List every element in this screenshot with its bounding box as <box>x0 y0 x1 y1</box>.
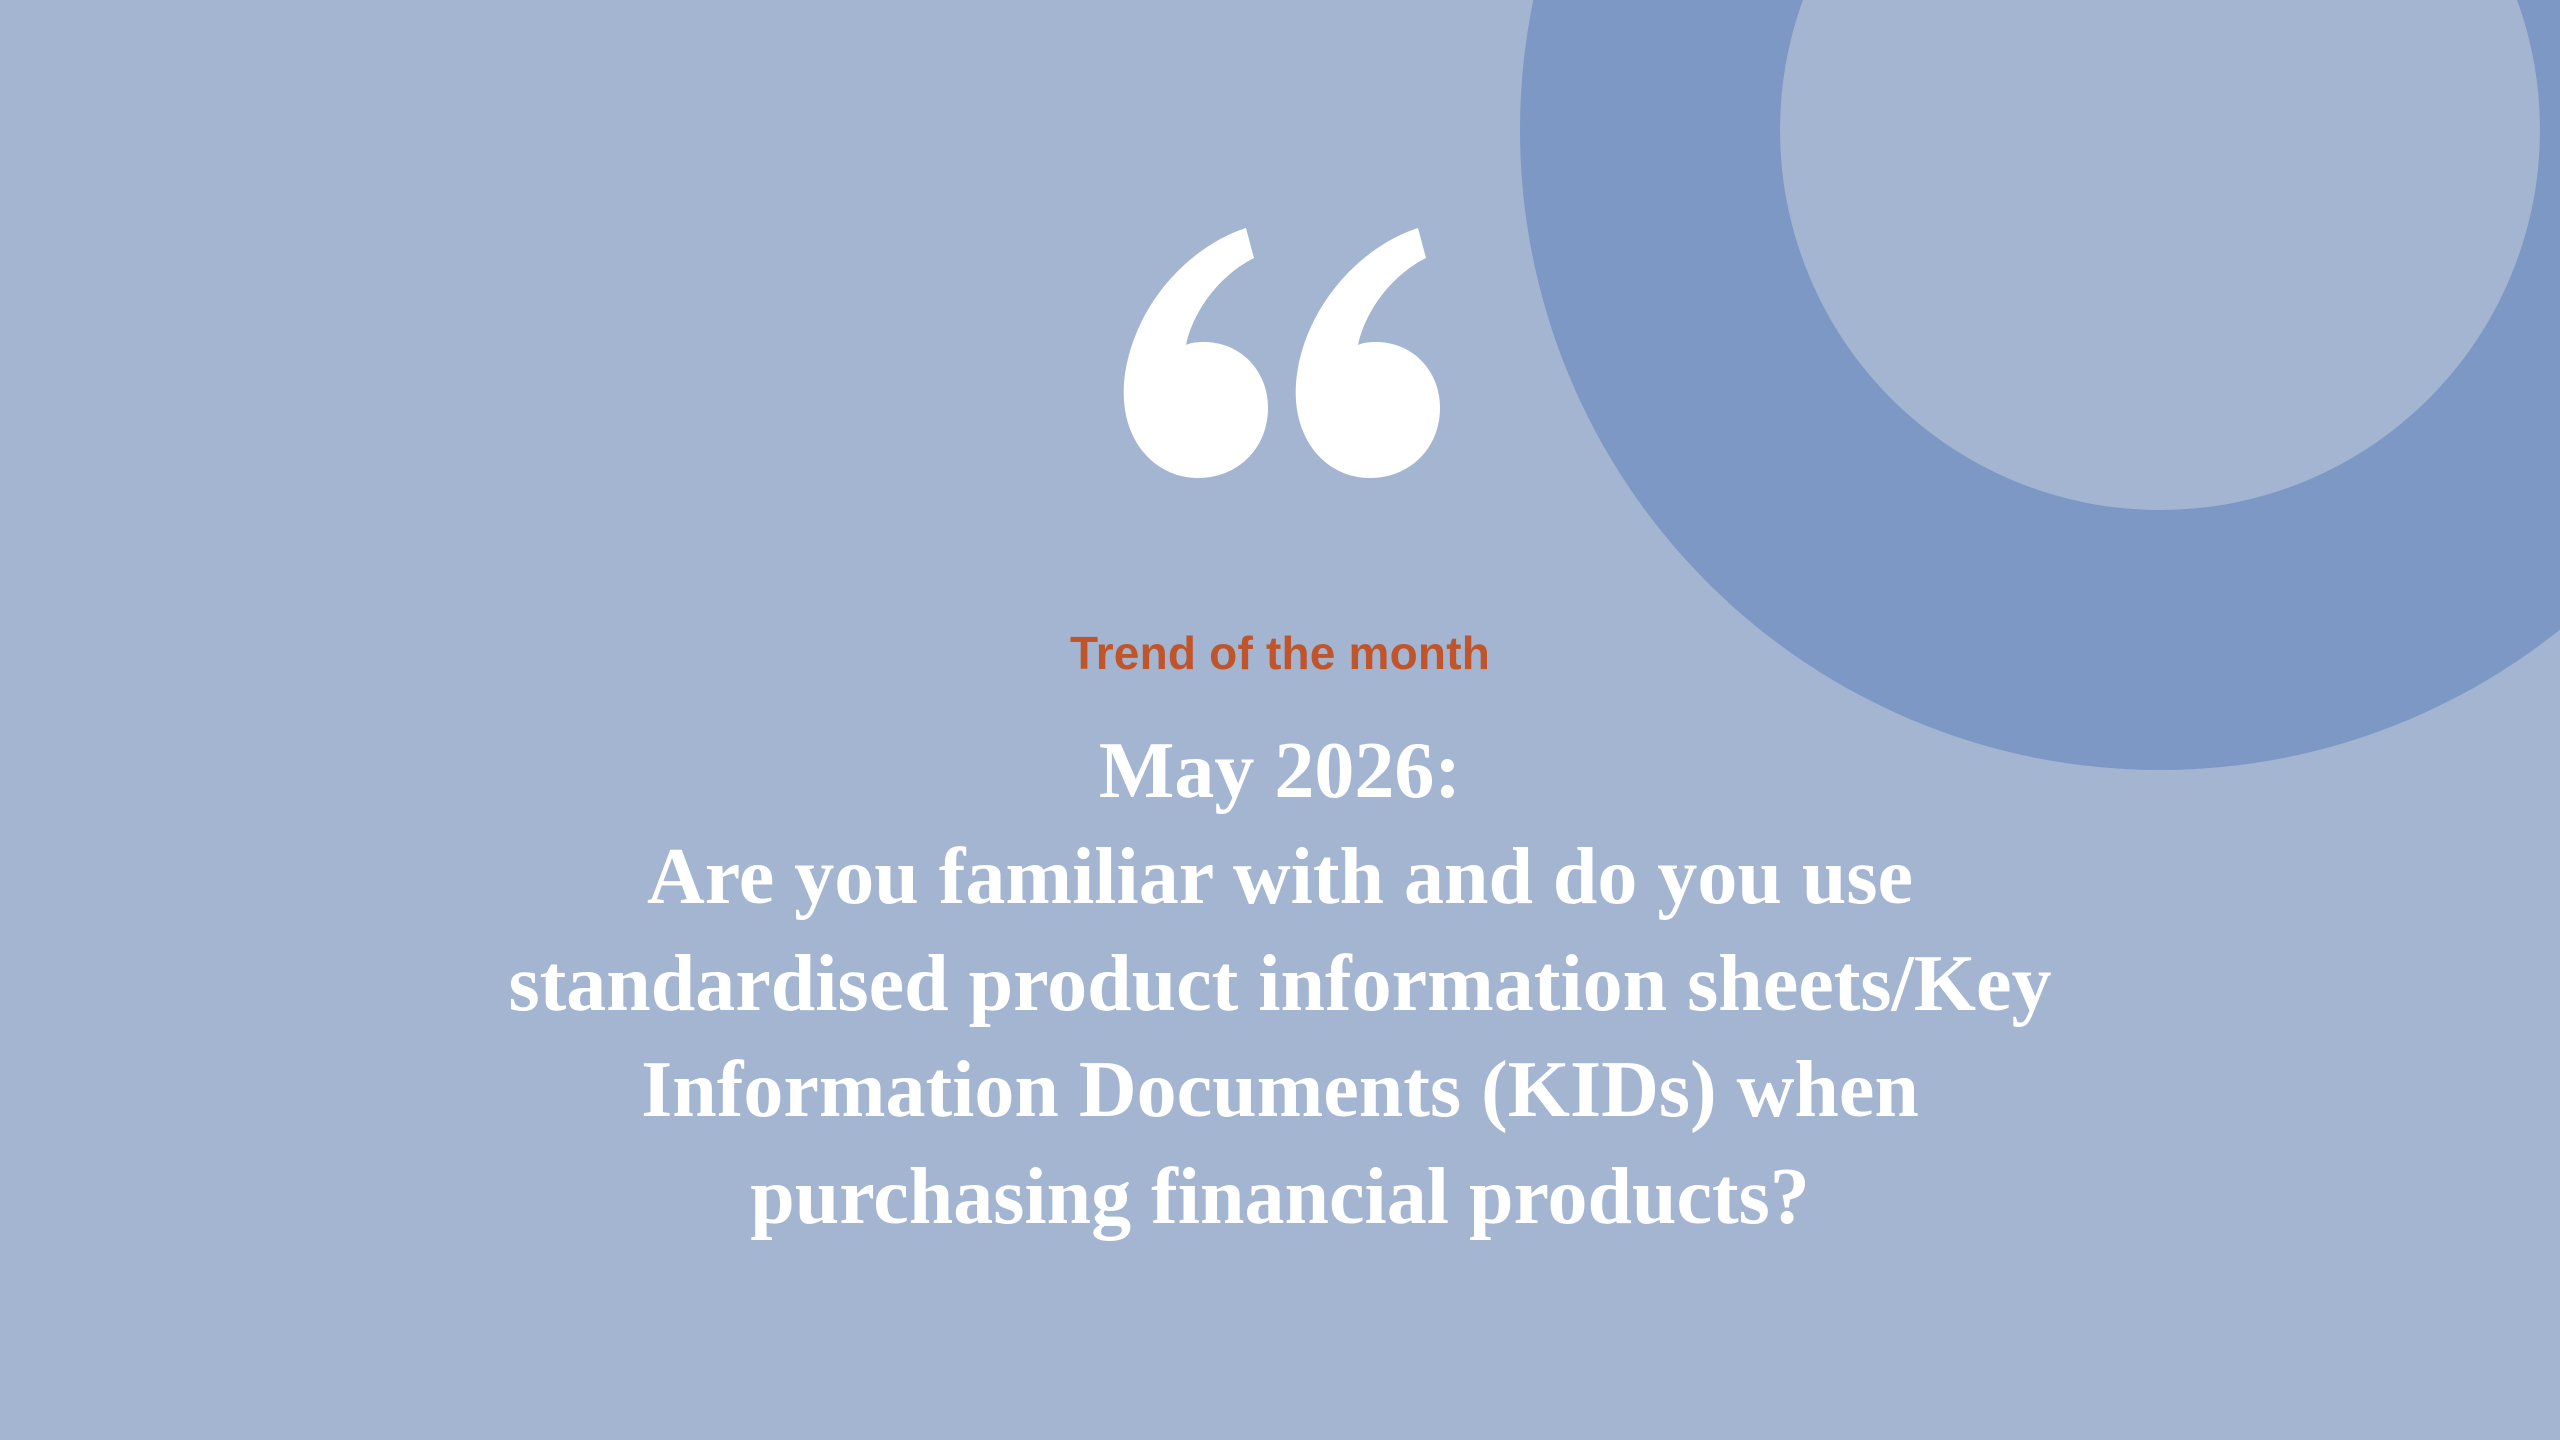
headline-line-2: Are you familiar with and do you use <box>280 824 2280 930</box>
headline-line-5: purchasing financial products? <box>280 1144 2280 1250</box>
page-title: May 2026: Are you familiar with and do y… <box>280 718 2280 1250</box>
headline-line-4: Information Documents (KIDs) when <box>280 1037 2280 1143</box>
slide-canvas: Trend of the month May 2026: Are you fam… <box>0 0 2560 1440</box>
quotation-mark-icon <box>1120 228 1440 478</box>
slide-content: Trend of the month May 2026: Are you fam… <box>0 0 2560 1440</box>
eyebrow-label: Trend of the month <box>1070 630 1490 676</box>
headline-line-1: May 2026: <box>280 718 2280 824</box>
headline-line-3: standardised product information sheets/… <box>280 931 2280 1037</box>
